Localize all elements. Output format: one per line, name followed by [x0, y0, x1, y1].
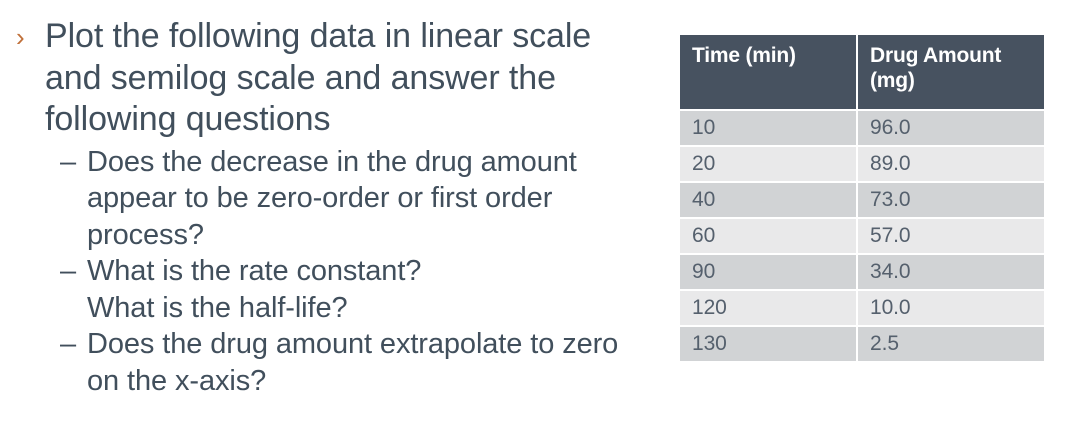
- cell-amount: 34.0: [858, 255, 1044, 289]
- table-row: 20 89.0: [680, 147, 1044, 181]
- table-row: 60 57.0: [680, 219, 1044, 253]
- cell-amount: 2.5: [858, 327, 1044, 361]
- cell-amount: 57.0: [858, 219, 1044, 253]
- sub-bullet-text-2-line1: What is the rate constant?: [87, 255, 421, 287]
- column-header-time: Time (min): [680, 35, 856, 109]
- dash-icon: –: [60, 253, 87, 290]
- dash-icon: –: [60, 326, 87, 363]
- cell-time: 20: [680, 147, 856, 181]
- table-row: 120 10.0: [680, 291, 1044, 325]
- dash-icon: –: [60, 144, 87, 181]
- table-header-row: Time (min) Drug Amount (mg): [680, 35, 1044, 109]
- cell-amount: 96.0: [858, 111, 1044, 145]
- sub-bullet-item-3: – Does the drug amount extrapolate to ze…: [12, 326, 622, 399]
- chevron-right-icon: ›: [12, 16, 45, 59]
- cell-time: 60: [680, 219, 856, 253]
- sub-bullet-item-1: – Does the decrease in the drug amount a…: [12, 144, 622, 254]
- cell-time: 10: [680, 111, 856, 145]
- table-row: 90 34.0: [680, 255, 1044, 289]
- sub-bullet-text-1: Does the decrease in the drug amount app…: [87, 144, 622, 254]
- sub-bullet-text-2: What is the rate constant? What is the h…: [87, 253, 622, 326]
- cell-time: 40: [680, 183, 856, 217]
- sub-bullet-text-2-line2: What is the half-life?: [87, 290, 622, 327]
- drug-amount-table: Time (min) Drug Amount (mg) 10 96.0 20 8…: [678, 33, 1046, 363]
- main-bullet-item: › Plot the following data in linear scal…: [12, 16, 622, 141]
- main-bullet-text: Plot the following data in linear scale …: [45, 16, 622, 141]
- table-row: 40 73.0: [680, 183, 1044, 217]
- cell-amount: 10.0: [858, 291, 1044, 325]
- cell-time: 130: [680, 327, 856, 361]
- slide-canvas: › Plot the following data in linear scal…: [0, 0, 1072, 442]
- table-header: Time (min) Drug Amount (mg): [680, 35, 1044, 109]
- table-row: 10 96.0: [680, 111, 1044, 145]
- cell-amount: 89.0: [858, 147, 1044, 181]
- sub-bullet-list: – Does the decrease in the drug amount a…: [12, 144, 622, 400]
- cell-amount: 73.0: [858, 183, 1044, 217]
- sub-bullet-item-2: – What is the rate constant? What is the…: [12, 253, 622, 326]
- column-header-drug-amount: Drug Amount (mg): [858, 35, 1044, 109]
- table-row: 130 2.5: [680, 327, 1044, 361]
- text-content-column: › Plot the following data in linear scal…: [12, 16, 622, 399]
- cell-time: 120: [680, 291, 856, 325]
- cell-time: 90: [680, 255, 856, 289]
- sub-bullet-text-3: Does the drug amount extrapolate to zero…: [87, 326, 622, 399]
- table-body: 10 96.0 20 89.0 40 73.0 60 57.0 90 34.0 …: [680, 111, 1044, 361]
